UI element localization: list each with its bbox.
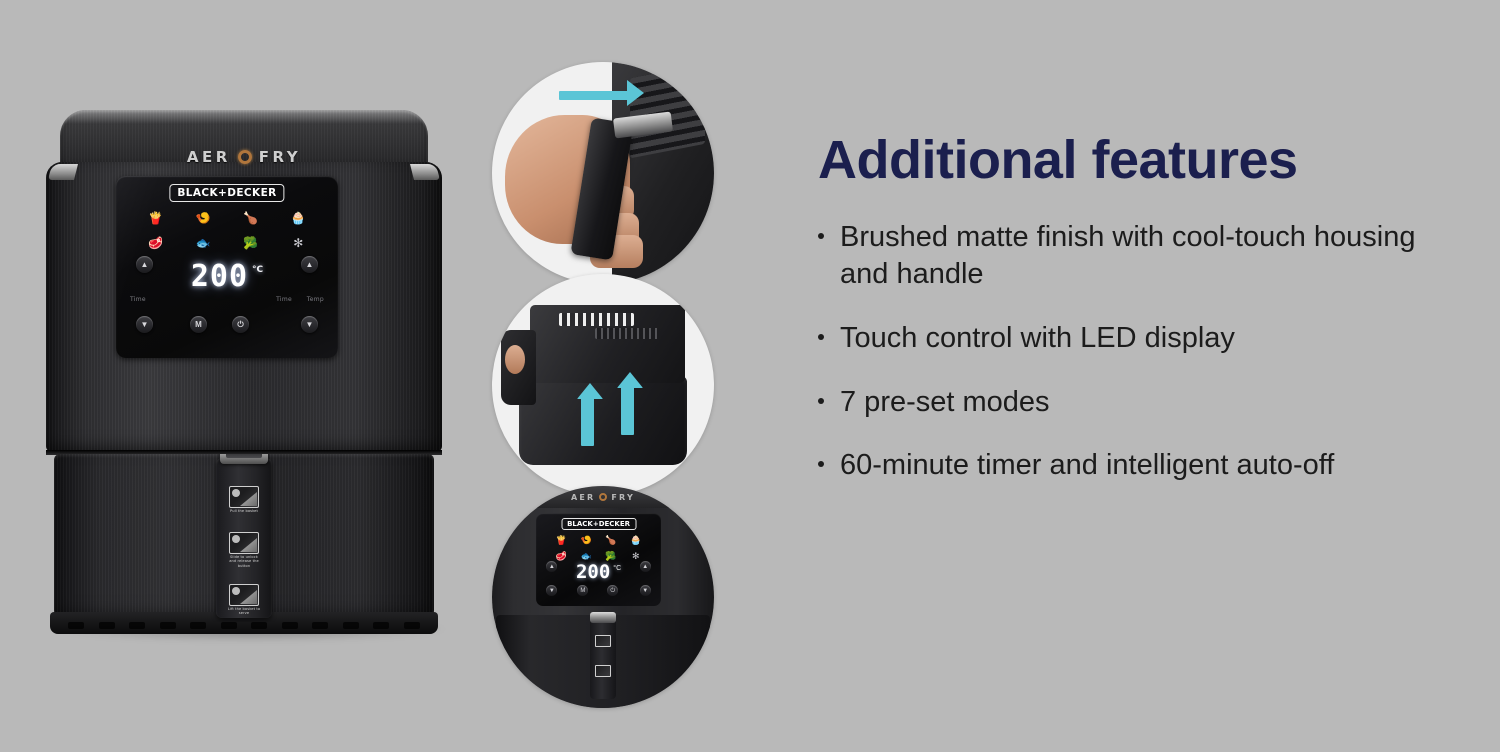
aerfry-ring-icon-closeup <box>599 493 607 501</box>
drawer-handle-grip[interactable] <box>220 454 268 464</box>
inset-control-panel-closeup: AER FRY BLACK+DECKER 🍟 🍤 🍗 🧁 🥩 🐟 🥦 ✻ ▲ ▲ <box>492 486 714 708</box>
led-display-closeup: 200 °C <box>576 563 621 582</box>
product-image-air-fryer: AER FRY BLACK+DECKER 🍟 🍤 🍗 🧁 🥩 🐟 🥦 ✻ <box>28 110 468 650</box>
fries-icon[interactable]: 🍟 <box>132 210 180 225</box>
list-item: Brushed matte finish with cool-touch hou… <box>818 219 1466 294</box>
bullet-icon <box>818 334 824 340</box>
control-panel[interactable]: BLACK+DECKER 🍟 🍤 🍗 🧁 🥩 🐟 🥦 ✻ ▲ ▲ ▼ ▼ M ⏻… <box>116 176 338 358</box>
temp-up-button-closeup[interactable]: ▲ <box>640 561 651 572</box>
temp-label-right: Temp <box>307 296 324 303</box>
fryer-lid: AER FRY <box>60 110 428 172</box>
chrome-accent-left <box>48 164 78 180</box>
bullet-icon <box>818 398 824 404</box>
feature-text: Touch control with LED display <box>840 320 1235 358</box>
basket-mesh <box>595 328 660 339</box>
direction-arrow-icon <box>559 91 634 100</box>
temp-up-button[interactable]: ▲ <box>301 256 318 273</box>
fish-icon[interactable]: 🐟 <box>180 235 228 250</box>
brand-logo-closeup: BLACK+DECKER <box>561 518 636 530</box>
sticker-caption: Lift the basket to serve <box>227 607 261 616</box>
fryer-drawer[interactable]: Pull the basket Slide to unlock and rele… <box>54 454 434 622</box>
menu-button-closeup[interactable]: M <box>577 585 588 596</box>
lift-arrow-icon <box>621 387 634 435</box>
feature-list: Brushed matte finish with cool-touch hou… <box>818 219 1466 485</box>
drawer-sticker: Slide to unlock and release the button <box>227 532 261 568</box>
steak-icon[interactable]: 🥩 <box>132 235 180 250</box>
handle-grip-closeup[interactable] <box>590 612 616 623</box>
cupcake-icon[interactable]: 🧁 <box>275 210 323 225</box>
direction-arrow-head-icon <box>627 80 644 106</box>
features-text-panel: Additional features Brushed matte finish… <box>818 132 1466 511</box>
bullet-icon <box>818 461 824 467</box>
fan-icon[interactable]: ✻ <box>275 235 323 250</box>
chicken-leg-icon[interactable]: 🍗 <box>227 210 275 225</box>
sticker-caption: Pull the basket <box>230 509 258 513</box>
sticker-pictogram-icon <box>229 486 259 508</box>
cupcake-icon-closeup[interactable]: 🧁 <box>623 535 648 546</box>
time-up-button[interactable]: ▲ <box>136 256 153 273</box>
fryer-basket <box>530 305 685 383</box>
aerfry-logo-right-closeup: FRY <box>611 493 635 502</box>
feature-text: 60-minute timer and intelligent auto-off <box>840 447 1334 485</box>
preset-mode-icons[interactable]: 🍟 🍤 🍗 🧁 🥩 🐟 🥦 ✻ <box>132 210 322 250</box>
inset-handle-grip-closeup <box>492 62 714 284</box>
led-value-closeup: 200 <box>576 563 610 582</box>
aerfry-logo-closeup: AER FRY <box>510 486 696 508</box>
sticker-closeup <box>595 665 611 677</box>
aerfry-logo-left-closeup: AER <box>571 493 595 502</box>
feature-inset-photos: AER FRY BLACK+DECKER 🍟 🍤 🍗 🧁 🥩 🐟 🥦 ✻ ▲ ▲ <box>492 62 716 752</box>
list-item: 60-minute timer and intelligent auto-off <box>818 447 1466 485</box>
time-label-left: Time <box>130 296 146 303</box>
aerfry-logo-left: AER <box>187 148 231 166</box>
led-display: 200 °C <box>191 262 263 292</box>
menu-button[interactable]: M <box>190 316 207 333</box>
list-item: 7 pre-set modes <box>818 384 1466 422</box>
power-button-closeup[interactable]: ⏻ <box>607 585 618 596</box>
drawer-handle-plate[interactable]: Pull the basket Slide to unlock and rele… <box>216 458 272 618</box>
time-up-button-closeup[interactable]: ▲ <box>546 561 557 572</box>
basket-slats <box>559 313 634 326</box>
lift-arrow-icon <box>581 398 594 446</box>
chrome-accent-right <box>410 164 440 180</box>
led-unit-closeup: °C <box>613 565 621 572</box>
brand-logo: BLACK+DECKER <box>169 184 284 202</box>
page-title: Additional features <box>818 132 1466 189</box>
base-vents <box>68 622 420 629</box>
sticker-pictogram-icon <box>229 532 259 554</box>
lid-highlight <box>60 110 428 124</box>
time-down-button[interactable]: ▼ <box>136 316 153 333</box>
drawer-sticker: Pull the basket <box>227 486 261 513</box>
bullet-icon <box>818 233 824 239</box>
drawer-sticker: Lift the basket to serve <box>227 584 261 616</box>
chicken-leg-icon-closeup[interactable]: 🍗 <box>599 535 624 546</box>
aerfry-logo: AER FRY <box>60 148 428 166</box>
aerfry-logo-right: FRY <box>259 148 301 166</box>
shrimp-icon[interactable]: 🍤 <box>180 210 228 225</box>
inset-basket-lift-closeup <box>492 274 714 496</box>
led-unit-label: °C <box>252 265 263 275</box>
drawer-handle-closeup[interactable] <box>590 619 616 699</box>
sticker-caption: Slide to unlock and release the button <box>227 555 261 568</box>
list-item: Touch control with LED display <box>818 320 1466 358</box>
lift-arrow-head-icon <box>617 372 643 388</box>
vegetable-icon[interactable]: 🥦 <box>227 235 275 250</box>
sticker-pictogram-icon <box>229 584 259 606</box>
fries-icon-closeup[interactable]: 🍟 <box>549 535 574 546</box>
feature-text: Brushed matte finish with cool-touch hou… <box>840 219 1440 294</box>
temp-down-button-closeup[interactable]: ▼ <box>640 585 651 596</box>
shrimp-icon-closeup[interactable]: 🍤 <box>574 535 599 546</box>
sticker-closeup <box>595 635 611 647</box>
aerfry-ring-icon <box>238 150 252 164</box>
time-label-center: Time <box>276 296 292 303</box>
led-temperature-value: 200 <box>191 262 248 292</box>
preset-icons-closeup[interactable]: 🍟 🍤 🍗 🧁 🥩 🐟 🥦 ✻ <box>549 535 648 562</box>
marketing-banner: AER FRY BLACK+DECKER 🍟 🍤 🍗 🧁 🥩 🐟 🥦 ✻ <box>0 0 1500 750</box>
lift-arrow-head-icon <box>577 383 603 399</box>
feature-text: 7 pre-set modes <box>840 384 1050 422</box>
power-button[interactable]: ⏻ <box>232 316 249 333</box>
temp-down-button[interactable]: ▼ <box>301 316 318 333</box>
time-down-button-closeup[interactable]: ▼ <box>546 585 557 596</box>
control-panel-closeup[interactable]: BLACK+DECKER 🍟 🍤 🍗 🧁 🥩 🐟 🥦 ✻ ▲ ▲ ▼ ▼ M ⏻ <box>536 513 660 606</box>
